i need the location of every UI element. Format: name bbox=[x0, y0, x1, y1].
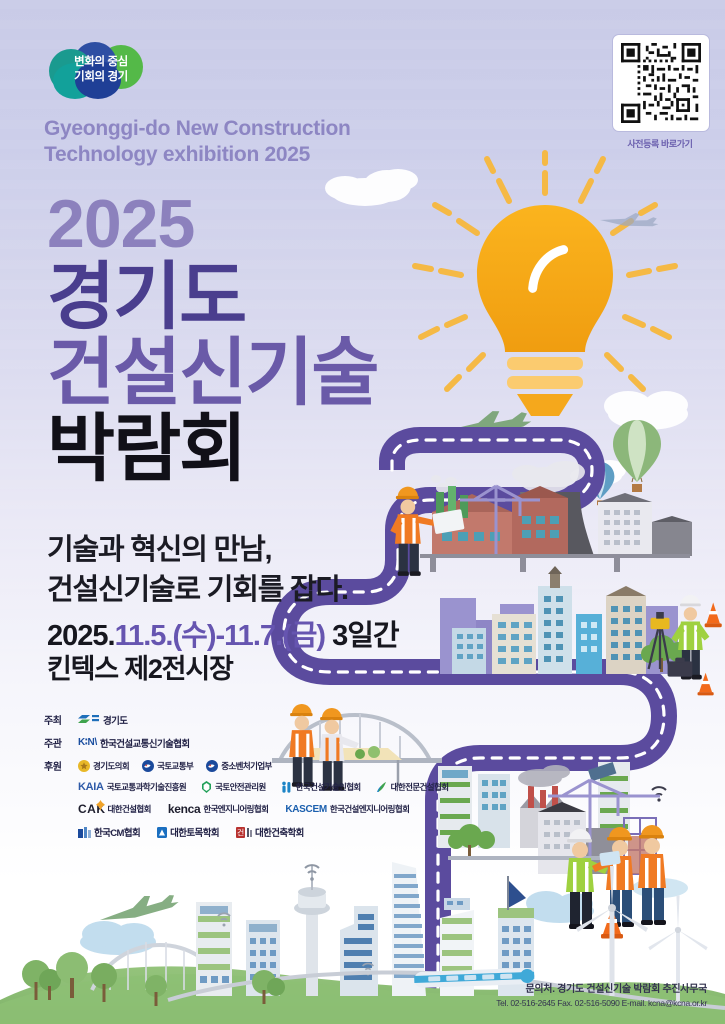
credit-logo-kaia: KAIA 국토교통과학기술진흥원 bbox=[78, 781, 186, 793]
credits-sponsor-row: 후원 경기도의회 국토교통부 bbox=[44, 758, 464, 773]
kocea-logo-icon bbox=[281, 781, 293, 793]
government-emblem-icon bbox=[206, 760, 218, 772]
credit-logo-kosca: 대한전문건설협회 bbox=[376, 781, 449, 793]
credits-sponsor-row-2: KAIA 국토교통과학기술진흥원 국토안전관리원 한국건설기술인협회 bbox=[78, 781, 464, 793]
credit-logo-kocea: 한국건설기술인협회 bbox=[281, 781, 361, 793]
credit-logo-kalis: 국토안전관리원 bbox=[201, 781, 266, 793]
tree-cluster bbox=[641, 635, 688, 672]
blueprint-worker-figure bbox=[390, 487, 464, 576]
credit-name: 한국CM협회 bbox=[94, 825, 140, 839]
green-building-row bbox=[438, 762, 666, 848]
hot-air-balloon-icon bbox=[586, 420, 661, 505]
event-dateline: 2025.11.5.(수)-11.7.(금) 3일간 bbox=[47, 618, 399, 654]
tree-cluster bbox=[22, 952, 285, 1006]
tower-crane-icon bbox=[460, 486, 540, 556]
credit-name: 경기도 bbox=[103, 713, 127, 727]
slogan-line2: 건설신기술로 기회를 잡다. bbox=[47, 570, 348, 610]
credit-name: 한국건설교통신기술협회 bbox=[100, 736, 190, 750]
credit-logo-gyeonggi-assembly: 경기도의회 bbox=[78, 760, 129, 772]
wifi-icon bbox=[652, 787, 666, 801]
credit-name: 한국엔지니어링협회 bbox=[203, 803, 268, 815]
credit-logo-kcna: K∶N\ 한국건설교통신기술협회 bbox=[78, 736, 190, 750]
credits-host-label: 주최 bbox=[44, 712, 78, 727]
government-emblem-icon bbox=[142, 760, 154, 772]
qr-code-icon[interactable] bbox=[621, 43, 701, 123]
kascem-logo-icon: KASCEM bbox=[285, 804, 327, 815]
svg-text:건: 건 bbox=[237, 827, 244, 837]
credits-sponsor-label: 후원 bbox=[44, 758, 78, 773]
date-duration: 3일간 bbox=[332, 620, 399, 652]
logo-text-line1: 변화의 중심 bbox=[58, 55, 144, 70]
kaia-logo-icon: KAIA bbox=[78, 781, 104, 793]
credit-name: 대한건설협회 bbox=[108, 803, 151, 815]
poster-root: 변화의 중심 기회의 경기 Gyeonggi-do New Constructi… bbox=[0, 0, 725, 1024]
credit-name: 대한전문건설협회 bbox=[391, 781, 449, 793]
english-title: Gyeonggi-do New Construction Technology … bbox=[44, 116, 424, 168]
logo-text-line2: 기회의 경기 bbox=[58, 70, 144, 85]
credit-name: 국토교통과학기술진흥원 bbox=[107, 781, 186, 793]
credit-name: 국토안전관리원 bbox=[215, 781, 266, 793]
date-dash: - bbox=[215, 620, 224, 652]
credits-host-row: 주최 경기도 bbox=[44, 712, 464, 727]
kcna-wordmark-icon: K∶N\ bbox=[78, 737, 97, 748]
title-line-gyeonggi: 경기도 bbox=[47, 258, 245, 336]
slogan: 기술과 혁신의 만남, 건설신기술로 기회를 잡다. bbox=[47, 530, 348, 610]
qr-caption: 사전등록 바로가기 bbox=[612, 137, 708, 150]
title-line-technology: 건설신기술 bbox=[47, 334, 377, 412]
credits-sponsor-row-4: 한국CM협회 대한토목학회 건 대한건축학회 bbox=[78, 825, 464, 839]
date-start: 11.5.(수) bbox=[115, 620, 216, 652]
credit-name: 대한토목학회 bbox=[170, 825, 219, 839]
winding-road bbox=[372, 446, 620, 700]
tower-crane-icon bbox=[548, 780, 660, 874]
date-end: 11.7.(금) bbox=[224, 620, 325, 652]
site-workers-figures bbox=[566, 825, 666, 939]
kalis-logo-icon bbox=[201, 781, 212, 793]
aik-logo-icon: 건 bbox=[236, 827, 252, 838]
credit-name: 경기도의회 bbox=[93, 760, 129, 772]
credits-organizer-label: 주관 bbox=[44, 735, 78, 750]
credit-logo-molit: 국토교통부 bbox=[142, 760, 193, 772]
ksce-logo-icon bbox=[157, 827, 167, 838]
credit-logo-mss: 중소벤처기업부 bbox=[206, 760, 272, 772]
airplane-silhouette bbox=[600, 211, 659, 229]
factory-scene bbox=[420, 461, 692, 572]
qr-code-box[interactable] bbox=[612, 34, 710, 132]
english-title-line2: Technology exhibition 2025 bbox=[44, 142, 424, 168]
wifi-icon bbox=[218, 913, 373, 975]
kosca-logo-icon bbox=[376, 781, 388, 793]
credit-logo-kascem: KASCEM 한국건설엔지니어링협회 bbox=[285, 803, 409, 815]
construction-site-scene bbox=[448, 780, 660, 874]
credit-name: 국토교통부 bbox=[157, 760, 193, 772]
credit-name: 중소벤처기업부 bbox=[221, 760, 272, 772]
traffic-cone-icon bbox=[601, 908, 623, 939]
wifi-icon bbox=[305, 865, 319, 881]
credit-name: 대한건축학회 bbox=[255, 825, 304, 839]
lightbulb-icon bbox=[477, 205, 613, 416]
gyeonggi-do-wordmark-icon bbox=[78, 714, 100, 725]
credit-logo-kenca: kenca 한국엔지니어링협회 bbox=[168, 802, 269, 816]
event-venue: 킨텍스 제2전시장 bbox=[47, 652, 233, 686]
gyeonggi-do-brand-logo: 변화의 중심 기회의 경기 bbox=[47, 41, 151, 101]
slogan-line1: 기술과 혁신의 만남, bbox=[47, 530, 348, 570]
credit-name: 한국건설기술인협회 bbox=[296, 781, 361, 793]
contact-details: Tel. 02-516-2645 Fax. 02-516-5090 E-mail… bbox=[496, 998, 707, 1008]
credits-sponsor-row-3: CAK 대한건설협회 kenca 한국엔지니어링협회 KASCEM 한국건설엔지… bbox=[78, 802, 464, 816]
contact-office: 문의처. 경기도 건설신기술 박람회 추진사무국 bbox=[496, 980, 707, 995]
credits-organizer-row: 주관 K∶N\ 한국건설교통신기술협회 bbox=[44, 735, 464, 750]
credit-logo-ksce: 대한토목학회 bbox=[157, 825, 219, 839]
kcma-logo-icon bbox=[78, 827, 91, 838]
credit-logo-cak: CAK 대한건설협회 bbox=[78, 802, 151, 816]
surveyor-worker-figure bbox=[649, 595, 722, 696]
contact-block: 문의처. 경기도 건설신기술 박람회 추진사무국 Tel. 02-516-264… bbox=[496, 980, 707, 1008]
date-prefix: 2025. bbox=[47, 620, 115, 652]
credit-logo-aik: 건 대한건축학회 bbox=[236, 825, 304, 839]
qr-registration-block[interactable]: 사전등록 바로가기 bbox=[612, 34, 708, 150]
blue-cloud-shapes bbox=[80, 878, 688, 955]
english-title-line1: Gyeonggi-do New Construction bbox=[44, 116, 424, 142]
credit-logo-kcma: 한국CM협회 bbox=[78, 825, 140, 839]
credit-name: 한국건설엔지니어링협회 bbox=[330, 803, 409, 815]
credit-logo-gyeonggi-do: 경기도 bbox=[78, 713, 127, 727]
traffic-cone-icon bbox=[698, 603, 722, 696]
logo-text: 변화의 중심 기회의 경기 bbox=[58, 55, 144, 85]
credits-block: 주최 경기도 주관 K∶N\ 한국건설교통신기술협회 bbox=[44, 712, 464, 848]
title-line-exhibition: 박람회 bbox=[47, 410, 245, 488]
cak-mark-icon bbox=[96, 800, 105, 811]
kenca-logo-icon: kenca bbox=[168, 802, 201, 816]
assembly-emblem-icon bbox=[78, 760, 90, 772]
cloud-shapes bbox=[325, 169, 688, 486]
city-skyline bbox=[440, 566, 688, 674]
title-year: 2025 bbox=[47, 190, 194, 258]
lightbulb-rays bbox=[415, 153, 675, 389]
